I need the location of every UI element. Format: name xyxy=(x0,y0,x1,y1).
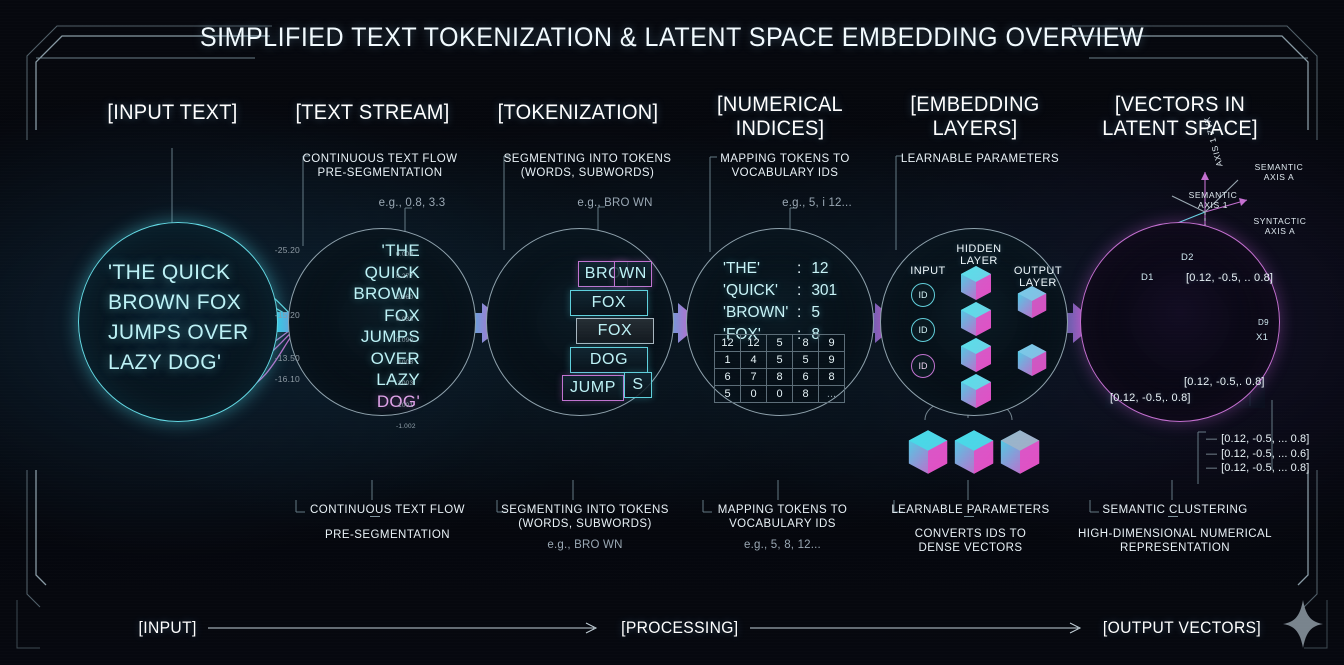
embedding-bottom-caption-line2: CONVERTS IDS TO xyxy=(888,527,1053,541)
axis-label-semantic-axis-a-line2: AXIS A xyxy=(1248,172,1310,182)
plot-axis-label-d1: D1 xyxy=(1141,272,1154,283)
vector-list-item: —[0.12, -0.5, ... 0.6] xyxy=(1206,447,1309,462)
grid-cell: 4 xyxy=(741,352,767,369)
axis-label-semantic-axis-1-line1: SEMANTIC xyxy=(1182,190,1244,200)
tokenization-bottom-example: e.g., BRO WN xyxy=(495,538,675,552)
tokenization-top-caption-line1: SEGMENTING INTO TOKENS xyxy=(500,152,675,166)
vector-list-item: —[0.12, -0.5, ... 0.8] xyxy=(1206,461,1309,476)
page-title: SIMPLIFIED TEXT TOKENIZATION & LATENT SP… xyxy=(47,22,1297,53)
infographic-root: SIMPLIFIED TEXT TOKENIZATION & LATENT SP… xyxy=(0,0,1344,665)
nn-hidden-cube xyxy=(958,300,994,338)
dense-vector-cube xyxy=(997,427,1043,477)
vector-value: [0.12, -0.5, ... 0.8] xyxy=(1221,462,1309,474)
grid-cell: 0 xyxy=(767,386,793,403)
grid-cell: 12 xyxy=(741,335,767,352)
grid-cell: 5 xyxy=(793,352,819,369)
vector-point-label: [0.12, -0.5,. 0.8] xyxy=(1184,376,1265,388)
plot-axis-label-d2: D2 xyxy=(1181,252,1194,263)
token-text: JUMP xyxy=(570,379,616,397)
tokenization-bottom-caption-line1: SEGMENTING INTO TOKENS xyxy=(495,503,675,517)
nn-input-node[interactable]: ID xyxy=(911,318,935,342)
footer-label-output: [OUTPUT VECTORS] xyxy=(1103,618,1261,638)
token-text: S xyxy=(632,376,643,394)
index-mapping-row: 'THE': 12 xyxy=(723,258,837,280)
stage-heading-embedding-line1: [EMBEDDING xyxy=(885,92,1066,117)
grid-cell: 5 xyxy=(767,335,793,352)
axis-label-syntactic-axis-a-line1: SYNTACTIC xyxy=(1248,216,1312,226)
stage-heading-tokenization: [TOKENIZATION] xyxy=(474,100,683,125)
grid-cell: 8 xyxy=(819,369,845,386)
stream-top-example: e.g., 0.8, 3.3 xyxy=(352,196,472,210)
tokenization-top-example: e.g., BRO WN xyxy=(560,196,670,210)
axis-label-semantic-axis-a-line1: SEMANTIC xyxy=(1248,162,1310,172)
stage-heading-indices-line2: INDICES] xyxy=(695,116,866,141)
nn-hidden-cube xyxy=(958,264,994,302)
token-text: DOG xyxy=(590,351,628,369)
indices-top-caption-line2: VOCABULARY IDs xyxy=(705,166,865,180)
footer-label-input: [INPUT] xyxy=(139,618,197,638)
token-box[interactable]: WN xyxy=(614,261,652,287)
stream-tiny-numbers: 0.000 0.277 0.060 0.035 0.090 .1008 .100… xyxy=(396,244,436,438)
token-text: FOX xyxy=(592,294,627,312)
vector-value: [0.12, -0.5, ... 0.8] xyxy=(1221,433,1309,445)
index-mapping-row: 'QUICK': 301 xyxy=(723,280,837,302)
vector-value-list: —[0.12, -0.5, ... 0.8] —[0.12, -0.5, ...… xyxy=(1206,432,1309,476)
index-mapping-row: 'BROWN': 5 xyxy=(723,302,837,324)
nn-input-node[interactable]: ID xyxy=(911,283,935,307)
stage-heading-text-stream: [TEXT STREAM] xyxy=(275,100,470,125)
axis-label-semantic-axis-1-line2: AXIS 1 xyxy=(1182,200,1244,210)
embedding-bottom-caption-line1: LEARNABLE PARAMETERS xyxy=(888,503,1053,517)
index-id: 301 xyxy=(811,282,837,299)
token-box[interactable]: S xyxy=(624,372,652,398)
index-id: 12 xyxy=(811,260,828,277)
stream-side-numbers: -25.20 -15.20 -13.50 -16.10 xyxy=(248,240,300,391)
stage-heading-latent-line2: LATENT SPACE] xyxy=(1090,116,1271,141)
tokenization-top-caption-line2: (WORDS, SUBWORDS) xyxy=(500,166,675,180)
sparkle-icon xyxy=(1281,598,1325,650)
footer-label-processing: [PROCESSING] xyxy=(621,618,738,638)
tokenization-bottom-caption-line2: (WORDS, SUBWORDS) xyxy=(495,517,675,531)
latent-bottom-caption-line1: SEMANTIC CLUSTERING xyxy=(1085,503,1265,517)
latent-bottom-caption-line2: HIGH-DIMENSIONAL NUMERICAL xyxy=(1075,527,1275,541)
nn-input-node[interactable]: ID xyxy=(911,354,935,378)
axis-label-syntactic-axis-a-line2: AXIS A xyxy=(1248,226,1312,236)
nn-node-label: ID xyxy=(919,361,928,371)
grid-cell: 1 xyxy=(715,352,741,369)
index-token: 'BROWN' xyxy=(723,302,797,324)
stream-bottom-caption-line1: CONTINUOUS TEXT FLOW xyxy=(300,503,475,517)
latent-bottom-caption-line3: REPRESENTATION xyxy=(1075,541,1275,555)
nn-output-cube xyxy=(1015,284,1049,320)
index-mapping-list: 'THE': 12 'QUICK': 301 'BROWN': 5 'FOX':… xyxy=(723,258,837,346)
nn-hidden-cube xyxy=(958,336,994,374)
grid-cell: 6 xyxy=(793,369,819,386)
token-box[interactable]: DOG xyxy=(570,347,648,373)
nn-label-hidden-line1: HIDDEN xyxy=(944,243,1014,255)
token-box-highlighted[interactable]: FOX xyxy=(576,318,654,344)
embedding-top-caption: LEARNABLE PARAMETERS xyxy=(890,152,1070,166)
token-box[interactable]: JUMP xyxy=(562,375,624,401)
table-row: 12 12 5 8 9 xyxy=(715,335,845,352)
grid-cell: ... xyxy=(819,386,845,403)
nn-hidden-cube xyxy=(958,372,994,410)
caption-divider xyxy=(1168,516,1178,517)
indices-bottom-caption-line1: MAPPING TOKENS TO xyxy=(700,503,865,517)
indices-bottom-example: e.g., 5, 8, 12... xyxy=(700,538,865,552)
stage-heading-latent-line1: [VECTORS IN xyxy=(1090,92,1271,117)
grid-cell: 0 xyxy=(741,386,767,403)
dense-vector-cube xyxy=(905,427,951,477)
index-id: 5 xyxy=(811,304,820,321)
nn-label-output-line1: OUTPUT xyxy=(1005,265,1071,277)
grid-cell: 6 xyxy=(715,369,741,386)
dense-vector-cube xyxy=(951,427,997,477)
embedding-bottom-caption-line3: DENSE VECTORS xyxy=(888,541,1053,555)
table-row: 6 7 8 6 8 xyxy=(715,369,845,386)
indices-top-caption-line1: MAPPING TOKENS TO xyxy=(705,152,865,166)
nn-output-cube xyxy=(1015,342,1049,378)
vector-point-label: [0.12, -0.5, .. 0.8] xyxy=(1186,272,1273,284)
grid-cell: 5 xyxy=(767,352,793,369)
vector-value: [0.12, -0.5, ... 0.6] xyxy=(1221,448,1309,460)
index-token: 'QUICK' xyxy=(723,280,797,302)
grid-cell: 9 xyxy=(819,352,845,369)
indices-top-example: e.g., 5, i 12... xyxy=(762,196,872,210)
grid-cell: 8 xyxy=(793,335,819,352)
stage-heading-input-text: [INPUT TEXT] xyxy=(75,100,270,125)
grid-cell: 9 xyxy=(819,335,845,352)
stream-top-caption-line1: CONTINUOUS TEXT FLOW xyxy=(300,152,460,166)
indices-bottom-caption-line2: VOCABULARY IDs xyxy=(700,517,865,531)
table-row: 5 0 0 8 ... xyxy=(715,386,845,403)
grid-cell: 7 xyxy=(741,369,767,386)
plot-axis-label-x1: X1 xyxy=(1256,332,1268,343)
footer-bar: [INPUT] [PROCESSING] [OUTPUT VECTORS] xyxy=(0,612,1344,648)
stage-heading-embedding-line2: LAYERS] xyxy=(885,116,1066,141)
grid-cell: 8 xyxy=(767,369,793,386)
plot-axis-label-d9: D9 xyxy=(1258,318,1269,327)
vector-point-label: [0.12, -0.5,. 0.8] xyxy=(1110,392,1191,404)
grid-cell: 8 xyxy=(793,386,819,403)
grid-cell: 5 xyxy=(715,386,741,403)
table-row: 1 4 5 5 9 xyxy=(715,352,845,369)
index-token: 'THE' xyxy=(723,258,797,280)
token-text: WN xyxy=(619,265,647,283)
token-text: FOX xyxy=(598,322,633,340)
stream-top-caption-line2: PRE-SEGMENTATION xyxy=(300,166,460,180)
stream-bottom-caption-line2: PRE-SEGMENTATION xyxy=(300,528,475,542)
vector-list-item: —[0.12, -0.5, ... 0.8] xyxy=(1206,432,1309,447)
caption-divider xyxy=(964,516,974,517)
nn-node-label: ID xyxy=(919,290,928,300)
grid-cell: 12 xyxy=(715,335,741,352)
stage-heading-indices-line1: [NUMERICAL xyxy=(695,92,866,117)
caption-divider xyxy=(370,516,380,517)
index-grid-table: 12 12 5 8 9 1 4 5 5 9 6 7 8 6 8 5 0 0 8 … xyxy=(714,334,845,403)
nn-node-label: ID xyxy=(919,325,928,335)
token-box[interactable]: FOX xyxy=(570,290,648,316)
